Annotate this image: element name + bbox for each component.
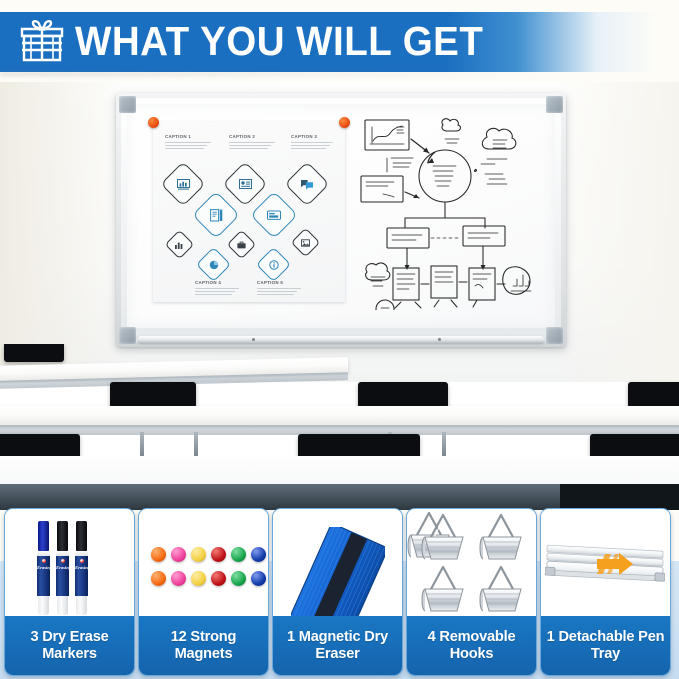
card-dry-erase-markers[interactable]: Erasing Erasing Erasing: [4, 508, 135, 676]
classroom-scene: CAPTION 1 CAPTION 2 CAPTION 3: [0, 82, 679, 502]
wall-shade-right: [559, 82, 679, 382]
gift-box-icon: [18, 18, 66, 66]
magnet-pink: [171, 571, 186, 586]
whiteboard-sketch: [359, 114, 537, 310]
board-pen-tray: [138, 336, 544, 343]
page-title: WHAT YOU WILL GET: [75, 11, 483, 71]
magnetic-eraser: [291, 527, 385, 616]
magnet-green: [231, 547, 246, 562]
magnet-red: [211, 547, 226, 562]
board-corner-top-right: [546, 96, 563, 113]
magnet-orange: [151, 547, 166, 562]
poster-tile-pie: [201, 252, 226, 277]
wall-shade-left: [0, 82, 120, 382]
poster-pin-right: [339, 117, 350, 128]
poster-tile-presentation: [257, 198, 291, 232]
magnet-green: [231, 571, 246, 586]
poster-caption-2: CAPTION 2: [229, 134, 255, 139]
magnet-yellow: [191, 547, 206, 562]
image-icon: [295, 232, 316, 253]
magnet-orange: [151, 571, 166, 586]
magnet-blue: [251, 547, 266, 562]
chair: [4, 344, 64, 362]
chair: [110, 382, 196, 408]
card-detachable-pen-tray[interactable]: 1 Detachable Pen Tray: [540, 508, 671, 676]
board-corner-top-left: [119, 96, 136, 113]
poster-tile-bars: [169, 234, 190, 255]
card-label-pen-tray: 1 Detachable Pen Tray: [541, 616, 670, 675]
card-strong-magnets[interactable]: 12 Strong Magnets: [138, 508, 269, 676]
bar-icon: [169, 234, 190, 255]
chart-icon: [167, 168, 199, 200]
briefcase-icon: [231, 234, 252, 255]
marker-brand-label: Erasing: [75, 565, 88, 570]
card-label-magnets: 12 Strong Magnets: [139, 616, 268, 675]
chat-icon: [291, 168, 323, 200]
magnet-pink: [171, 547, 186, 562]
magnet-blue: [251, 571, 266, 586]
poster-tile-chat: [291, 168, 323, 200]
marker-black-2: Erasing: [75, 521, 88, 615]
presentation-icon: [257, 198, 291, 232]
magnet-red: [211, 571, 226, 586]
card-art-hooks: [407, 509, 536, 616]
poster-pin-left: [148, 117, 159, 128]
card-label-eraser: 1 Magnetic Dry Eraser: [273, 616, 402, 675]
poster: CAPTION 1 CAPTION 2 CAPTION 3: [153, 122, 345, 302]
board-corner-bottom-left: [119, 327, 136, 344]
marker-blue: Erasing: [37, 521, 50, 615]
banner-shadow: [0, 72, 560, 76]
pie-icon: [201, 252, 226, 277]
poster-tile-briefcase: [231, 234, 252, 255]
poster-caption-3: CAPTION 3: [291, 134, 317, 139]
poster-tile-info: [261, 252, 286, 277]
card-magnetic-eraser[interactable]: 1 Magnetic Dry Eraser: [272, 508, 403, 676]
poster-caption-4: CAPTION 4: [195, 280, 221, 285]
chair: [358, 382, 448, 408]
hook-group: [407, 509, 536, 616]
card-label-hooks: 4 Removable Hooks: [407, 616, 536, 675]
document-icon: [199, 198, 233, 232]
infographic-root: WHAT YOU WILL GET CAPTION 1 CAPTION 2: [0, 0, 679, 679]
magnet-yellow: [191, 571, 206, 586]
card-art-pen-tray: [541, 509, 670, 616]
poster-tile-idcard: [229, 168, 261, 200]
poster-caption-3-lines: [291, 142, 333, 151]
poster-caption-1-lines: [165, 142, 211, 151]
card-art-markers: Erasing Erasing Erasing: [5, 509, 134, 616]
pen-tray: [545, 543, 665, 599]
card-art-eraser: [273, 509, 402, 616]
card-label-markers: 3 Dry Erase Markers: [5, 616, 134, 675]
header-banner: WHAT YOU WILL GET: [0, 12, 679, 72]
id-card-icon: [229, 168, 261, 200]
whiteboard-surface: CAPTION 1 CAPTION 2 CAPTION 3: [127, 104, 555, 328]
poster-caption-4-lines: [195, 288, 239, 297]
poster-caption-5-lines: [257, 288, 301, 297]
poster-caption-5: CAPTION 5: [257, 280, 283, 285]
poster-caption-2-lines: [229, 142, 275, 151]
feature-cards: Erasing Erasing Erasing: [0, 503, 679, 679]
card-art-magnets: [139, 509, 268, 616]
whiteboard: CAPTION 1 CAPTION 2 CAPTION 3: [116, 93, 566, 347]
board-corner-bottom-right: [546, 327, 563, 344]
card-removable-hooks[interactable]: 4 Removable Hooks: [406, 508, 537, 676]
whiteboard-frame: CAPTION 1 CAPTION 2 CAPTION 3: [116, 93, 566, 347]
poster-tile-document: [199, 198, 233, 232]
desk: [0, 406, 679, 426]
poster-caption-1: CAPTION 1: [165, 134, 191, 139]
marker-black-1: Erasing: [56, 521, 69, 615]
marker-brand-label: Erasing: [37, 565, 50, 570]
poster-tile-chart: [167, 168, 199, 200]
chair: [628, 382, 679, 408]
poster-tile-image: [295, 232, 316, 253]
marker-brand-label: Erasing: [56, 565, 69, 570]
info-icon: [261, 252, 286, 277]
